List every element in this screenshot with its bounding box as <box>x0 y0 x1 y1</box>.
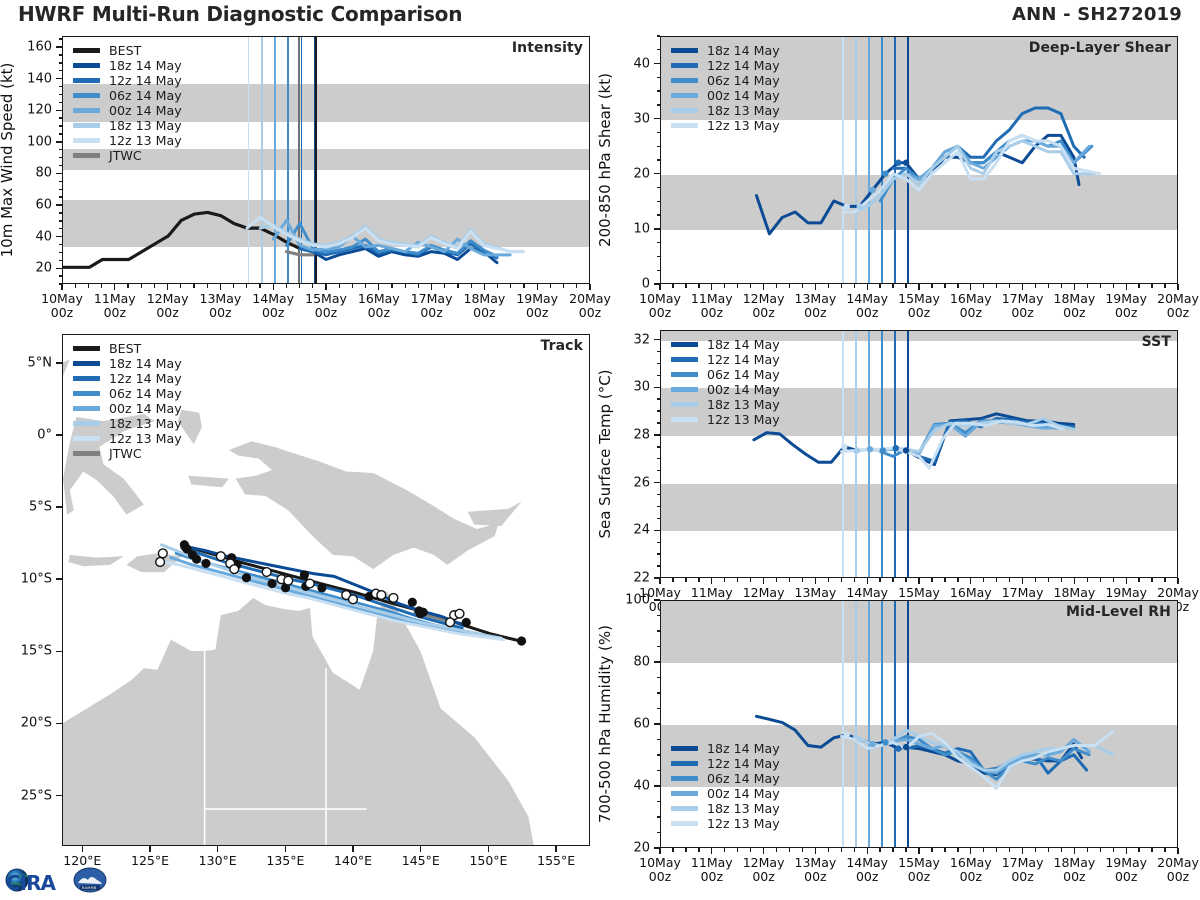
legend-label: 12z 13 May <box>707 412 780 427</box>
x-minor-tick <box>101 284 102 288</box>
lat-tick-label: 0° <box>37 427 52 442</box>
x-tick-label: 13May00z <box>200 292 242 320</box>
x-minor-tick <box>737 284 738 288</box>
x-minor-tick <box>944 578 945 582</box>
y-minor-tick <box>657 375 661 376</box>
x-tick-mark <box>659 578 660 584</box>
x-tick-mark <box>918 578 919 584</box>
legend-label: 12z 14 May <box>707 756 780 771</box>
lon-tick-label: 155°E <box>537 854 575 868</box>
legend-item[interactable]: BEST <box>73 341 182 356</box>
x-minor-tick <box>828 284 829 288</box>
x-minor-tick <box>750 284 751 288</box>
legend-swatch <box>671 761 698 765</box>
x-minor-tick <box>1151 848 1152 852</box>
track-marker-12z <box>230 565 239 574</box>
init-marker <box>867 446 873 452</box>
legend-label: 00z 14 May <box>707 786 780 801</box>
y-minor-tick <box>657 708 661 709</box>
x-minor-tick <box>776 848 777 852</box>
x-tick-label: 11May00z <box>691 856 733 884</box>
x-minor-tick <box>892 578 893 582</box>
y-minor-tick <box>657 132 661 133</box>
init-marker <box>856 736 862 742</box>
track-marker-00z <box>300 570 309 579</box>
y-tick-label: 20 <box>633 166 650 181</box>
x-tick-mark <box>815 848 816 854</box>
legend-label: 18z 14 May <box>707 43 780 58</box>
shear-plot-area[interactable]: Deep-Layer Shear18z 14 May12z 14 May06z … <box>660 36 1178 284</box>
legend-item[interactable]: 18z 13 May <box>73 118 182 133</box>
svg-text:CIRA: CIRA <box>6 871 57 895</box>
y-tick-label: 10 <box>633 221 650 236</box>
y-minor-tick <box>657 553 661 554</box>
y-tick-label: 24 <box>633 523 650 538</box>
legend-label: 18z 13 May <box>707 801 780 816</box>
legend-label: 12z 13 May <box>109 133 182 148</box>
x-minor-tick <box>286 284 287 288</box>
y-minor-tick <box>59 204 63 205</box>
legend-label: BEST <box>109 43 141 58</box>
track-marker-12z <box>158 549 167 558</box>
lon-tick-mark <box>420 846 421 852</box>
x-tick-mark <box>378 284 379 290</box>
series-line <box>842 421 1064 468</box>
x-minor-tick <box>1048 848 1049 852</box>
legend-item[interactable]: 18z 14 May <box>671 43 780 58</box>
x-tick-label: 15May00z <box>305 292 347 320</box>
x-tick-label: 16May00z <box>358 292 400 320</box>
x-minor-tick <box>1061 284 1062 288</box>
x-minor-tick <box>1164 848 1165 852</box>
init-marker <box>869 187 875 193</box>
legend-item[interactable]: 06z 14 May <box>73 88 182 103</box>
legend-swatch <box>73 63 100 67</box>
legend-swatch <box>671 93 698 97</box>
track-marker-00z <box>317 583 326 592</box>
lat-tick-label: 25°S <box>21 788 52 803</box>
x-minor-tick <box>523 284 524 288</box>
x-minor-tick <box>365 284 366 288</box>
legend-label: 12z 13 May <box>707 118 780 133</box>
y-minor-tick <box>657 398 661 399</box>
legend-swatch <box>671 342 698 346</box>
x-minor-tick <box>802 578 803 582</box>
x-tick-mark <box>918 284 919 290</box>
shear-y-axis-label: 200-850 hPa Shear (kt) <box>596 73 614 247</box>
legend-item[interactable]: JTWC <box>73 446 182 461</box>
y-minor-tick <box>657 201 661 202</box>
intensity-plot-area[interactable]: IntensityBEST18z 14 May12z 14 May06z 14 … <box>62 36 590 284</box>
x-minor-tick <box>246 284 247 288</box>
y-minor-tick <box>59 62 63 63</box>
y-tick-label: 160 <box>27 40 52 55</box>
y-tick-label: 40 <box>35 229 52 244</box>
x-tick-label: 11May00z <box>691 292 733 320</box>
y-minor-tick <box>59 244 63 245</box>
y-minor-tick <box>657 506 661 507</box>
x-tick-mark <box>815 284 816 290</box>
legend-item[interactable]: 00z 14 May <box>671 382 780 397</box>
y-tick-label: 100 <box>625 593 650 608</box>
lon-tick-label: 140°E <box>334 854 372 868</box>
y-minor-tick <box>59 228 63 229</box>
x-minor-tick <box>471 284 472 288</box>
sst-panel-title: SST <box>1142 334 1171 350</box>
x-tick-mark <box>711 848 712 854</box>
x-tick-mark <box>970 284 971 290</box>
legend-item[interactable]: 18z 13 May <box>671 801 780 816</box>
y-tick-label: 120 <box>27 103 52 118</box>
x-tick-label: 12May00z <box>147 292 189 320</box>
x-tick-mark <box>1126 284 1127 290</box>
legend-item[interactable]: 06z 14 May <box>73 386 182 401</box>
x-tick-mark <box>1022 848 1023 854</box>
legend-item[interactable]: 12z 14 May <box>73 73 182 88</box>
x-minor-tick <box>802 848 803 852</box>
y-minor-tick <box>657 35 661 36</box>
legend-label: 18z 14 May <box>707 337 780 352</box>
sst-plot-area[interactable]: SST18z 14 May12z 14 May06z 14 May00z 14 … <box>660 330 1178 578</box>
x-tick-mark <box>711 284 712 290</box>
x-tick-label: 14May00z <box>846 856 888 884</box>
y-minor-tick <box>657 104 661 105</box>
x-tick-mark <box>1074 284 1075 290</box>
legend-swatch <box>671 78 698 82</box>
y-minor-tick <box>657 615 661 616</box>
x-minor-tick <box>672 848 673 852</box>
x-minor-tick <box>957 578 958 582</box>
x-minor-tick <box>698 284 699 288</box>
x-tick-mark <box>867 284 868 290</box>
x-tick-label: 19May00z <box>1105 292 1147 320</box>
legend-label: 00z 14 May <box>109 401 182 416</box>
y-minor-tick <box>59 260 63 261</box>
x-minor-tick <box>931 284 932 288</box>
legend-label: 06z 14 May <box>707 73 780 88</box>
y-tick-label: 32 <box>633 332 650 347</box>
lon-tick-mark <box>82 846 83 852</box>
panel-shear[interactable]: Deep-Layer Shear18z 14 May12z 14 May06z … <box>660 36 1178 284</box>
x-minor-tick <box>193 284 194 288</box>
x-tick-label: 14May00z <box>846 292 888 320</box>
x-minor-tick <box>931 848 932 852</box>
init-marker <box>903 744 909 750</box>
legend-label: 12z 14 May <box>707 352 780 367</box>
x-tick-label: 17May00z <box>1002 856 1044 884</box>
y-minor-tick <box>657 542 661 543</box>
x-tick-mark <box>1074 578 1075 584</box>
track-marker-12z <box>305 579 314 588</box>
lon-tick-label: 150°E <box>469 854 507 868</box>
legend-item[interactable]: 18z 14 May <box>671 337 780 352</box>
x-minor-tick <box>983 848 984 852</box>
y-minor-tick <box>657 146 661 147</box>
x-tick-mark <box>867 578 868 584</box>
x-tick-mark <box>659 848 660 854</box>
x-tick-mark <box>970 578 971 584</box>
legend-item[interactable]: 12z 14 May <box>671 58 780 73</box>
legend-item[interactable]: 12z 13 May <box>671 816 780 831</box>
x-minor-tick <box>724 578 725 582</box>
x-tick-label: 14May00z <box>252 292 294 320</box>
x-tick-mark <box>114 284 115 290</box>
x-minor-tick <box>88 284 89 288</box>
x-minor-tick <box>1151 578 1152 582</box>
legend-label: 06z 14 May <box>707 367 780 382</box>
legend-label: BEST <box>109 341 141 356</box>
init-marker <box>895 745 901 751</box>
y-tick-label: 20 <box>35 261 52 276</box>
x-minor-tick <box>698 578 699 582</box>
y-minor-tick <box>657 565 661 566</box>
legend-item[interactable]: 00z 14 May <box>671 786 780 801</box>
x-minor-tick <box>1061 578 1062 582</box>
panel-sst[interactable]: SST18z 14 May12z 14 May06z 14 May00z 14 … <box>660 330 1178 578</box>
x-minor-tick <box>1035 284 1036 288</box>
legend-item[interactable]: 12z 13 May <box>73 133 182 148</box>
x-minor-tick <box>339 284 340 288</box>
panel-intensity[interactable]: IntensityBEST18z 14 May12z 14 May06z 14 … <box>62 36 590 284</box>
x-tick-label: 13May00z <box>795 292 837 320</box>
x-minor-tick <box>957 284 958 288</box>
y-minor-tick <box>59 46 63 47</box>
y-minor-tick <box>59 70 63 71</box>
legend-label: 06z 14 May <box>109 88 182 103</box>
x-tick-mark <box>918 848 919 854</box>
x-tick-mark <box>1074 848 1075 854</box>
x-minor-tick <box>1113 284 1114 288</box>
legend-label: JTWC <box>109 148 142 163</box>
x-minor-tick <box>497 284 498 288</box>
x-minor-tick <box>802 284 803 288</box>
legend-label: 18z 14 May <box>109 356 182 371</box>
x-minor-tick <box>1009 284 1010 288</box>
y-minor-tick <box>59 54 63 55</box>
lon-tick-mark <box>352 846 353 852</box>
legend-swatch <box>671 776 698 780</box>
legend-item[interactable]: 00z 14 May <box>73 103 182 118</box>
y-minor-tick <box>59 149 63 150</box>
x-minor-tick <box>854 284 855 288</box>
y-tick-label: 28 <box>633 427 650 442</box>
x-minor-tick <box>1138 578 1139 582</box>
y-minor-tick <box>59 141 63 142</box>
init-marker <box>895 160 901 166</box>
x-tick-mark <box>763 578 764 584</box>
legend-swatch <box>73 391 100 395</box>
x-tick-mark <box>220 284 221 290</box>
x-minor-tick <box>724 848 725 852</box>
intensity-legend: BEST18z 14 May12z 14 May06z 14 May00z 14… <box>73 43 182 163</box>
x-minor-tick <box>259 284 260 288</box>
track-marker-00z <box>462 618 471 627</box>
y-minor-tick <box>59 275 63 276</box>
x-minor-tick <box>672 284 673 288</box>
legend-swatch <box>73 406 100 410</box>
x-tick-mark <box>1126 578 1127 584</box>
x-tick-mark <box>589 284 590 290</box>
y-minor-tick <box>657 470 661 471</box>
legend-item[interactable]: 00z 14 May <box>73 401 182 416</box>
track-plot-area[interactable]: TrackBEST18z 14 May12z 14 May06z 14 May0… <box>62 334 590 846</box>
x-minor-tick <box>828 848 829 852</box>
track-marker-00z <box>201 559 210 568</box>
lon-tick-label: 130°E <box>199 854 237 868</box>
y-minor-tick <box>59 38 63 39</box>
x-minor-tick <box>737 578 738 582</box>
y-minor-tick <box>59 125 63 126</box>
x-tick-mark <box>1177 284 1178 290</box>
legend-item[interactable]: 18z 14 May <box>671 741 780 756</box>
init-marker <box>841 444 847 450</box>
x-minor-tick <box>1087 578 1088 582</box>
init-marker <box>903 447 909 453</box>
lat-tick-mark <box>56 362 62 363</box>
legend-item[interactable]: 18z 13 May <box>671 103 780 118</box>
y-minor-tick <box>657 677 661 678</box>
y-minor-tick <box>59 157 63 158</box>
series-line <box>893 742 1086 773</box>
x-minor-tick <box>312 284 313 288</box>
x-minor-tick <box>1048 284 1049 288</box>
x-minor-tick <box>750 578 751 582</box>
y-minor-tick <box>657 214 661 215</box>
x-minor-tick <box>879 284 880 288</box>
x-tick-label: 10May00z <box>639 856 681 884</box>
y-minor-tick <box>59 133 63 134</box>
legend-item[interactable]: 12z 14 May <box>671 756 780 771</box>
legend-swatch <box>73 451 100 455</box>
init-marker <box>880 447 886 453</box>
x-tick-mark <box>484 284 485 290</box>
x-minor-tick <box>1100 284 1101 288</box>
y-minor-tick <box>657 228 661 229</box>
y-minor-tick <box>657 351 661 352</box>
panel-track[interactable]: TrackBEST18z 14 May12z 14 May06z 14 May0… <box>62 334 590 846</box>
x-minor-tick <box>931 578 932 582</box>
init-marker <box>893 445 899 451</box>
legend-item[interactable]: 06z 14 May <box>671 367 780 382</box>
x-tick-label: 16May00z <box>950 856 992 884</box>
init-marker <box>844 732 850 738</box>
lon-tick-mark <box>149 846 150 852</box>
x-minor-tick <box>207 284 208 288</box>
x-tick-mark <box>1177 848 1178 854</box>
x-minor-tick <box>1100 848 1101 852</box>
y-tick-label: 80 <box>35 166 52 181</box>
legend-item[interactable]: 18z 13 May <box>671 397 780 412</box>
rh-y-axis-label: 700-500 hPa Humidity (%) <box>596 625 614 823</box>
lat-tick-label: 10°S <box>21 572 52 587</box>
legend-swatch <box>73 153 100 157</box>
y-minor-tick <box>657 77 661 78</box>
y-minor-tick <box>59 252 63 253</box>
legend-swatch <box>671 806 698 810</box>
x-minor-tick <box>418 284 419 288</box>
legend-item[interactable]: 12z 13 May <box>671 118 780 133</box>
x-minor-tick <box>841 578 842 582</box>
y-tick-label: 30 <box>633 111 650 126</box>
y-minor-tick <box>59 196 63 197</box>
x-tick-label: 17May00z <box>1002 292 1044 320</box>
x-tick-mark <box>431 284 432 290</box>
y-minor-tick <box>59 212 63 213</box>
x-tick-label: 17May00z <box>411 292 453 320</box>
legend-item[interactable]: 12z 13 May <box>73 431 182 446</box>
y-minor-tick <box>657 458 661 459</box>
track-marker-00z <box>408 598 417 607</box>
x-minor-tick <box>828 578 829 582</box>
x-tick-label: 20May00z <box>1157 856 1199 884</box>
legend-swatch <box>671 402 698 406</box>
x-minor-tick <box>75 284 76 288</box>
lon-tick-mark <box>217 846 218 852</box>
legend-item[interactable]: JTWC <box>73 148 182 163</box>
track-marker-12z <box>349 595 358 604</box>
x-minor-tick <box>180 284 181 288</box>
legend-item[interactable]: 12z 14 May <box>73 371 182 386</box>
x-tick-label: 15May00z <box>898 292 940 320</box>
x-tick-label: 19May00z <box>516 292 558 320</box>
legend-item[interactable]: 06z 14 May <box>671 771 780 786</box>
legend-label: 00z 14 May <box>707 382 780 397</box>
x-minor-tick <box>776 578 777 582</box>
y-minor-tick <box>657 363 661 364</box>
x-minor-tick <box>1035 848 1036 852</box>
y-minor-tick <box>59 110 63 111</box>
x-tick-label: 20May00z <box>569 292 611 320</box>
y-tick-label: 80 <box>633 655 650 670</box>
y-minor-tick <box>657 518 661 519</box>
series-line <box>63 212 313 267</box>
track-marker-12z <box>377 591 386 600</box>
legend-item[interactable]: 12z 13 May <box>671 412 780 427</box>
x-minor-tick <box>905 284 906 288</box>
legend-item[interactable]: 18z 14 May <box>73 356 182 371</box>
legend-item[interactable]: BEST <box>73 43 182 58</box>
legend-item[interactable]: 06z 14 May <box>671 73 780 88</box>
x-tick-mark <box>815 578 816 584</box>
legend-swatch <box>73 421 100 425</box>
x-minor-tick <box>854 578 855 582</box>
x-tick-mark <box>1022 578 1023 584</box>
init-marker <box>844 203 850 209</box>
x-minor-tick <box>841 284 842 288</box>
legend-item[interactable]: 18z 13 May <box>73 416 182 431</box>
rh-plot-area[interactable]: Mid-Level RH18z 14 May12z 14 May06z 14 M… <box>660 600 1178 848</box>
legend-item[interactable]: 00z 14 May <box>671 88 780 103</box>
x-minor-tick <box>776 284 777 288</box>
lat-tick-mark <box>56 578 62 579</box>
legend-label: 12z 14 May <box>109 371 182 386</box>
y-minor-tick <box>657 410 661 411</box>
legend-item[interactable]: 18z 14 May <box>73 58 182 73</box>
track-marker-12z <box>216 552 225 561</box>
y-minor-tick <box>657 816 661 817</box>
panel-rh[interactable]: Mid-Level RH18z 14 May12z 14 May06z 14 M… <box>660 600 1178 848</box>
intensity-y-axis-label: 10m Max Wind Speed (kt) <box>0 63 16 258</box>
track-marker-12z <box>389 594 398 603</box>
x-tick-mark <box>867 848 868 854</box>
lat-tick-label: 15°S <box>21 644 52 659</box>
lon-tick-mark <box>555 846 556 852</box>
track-marker-00z <box>242 573 251 582</box>
track-marker-12z <box>446 618 455 627</box>
y-tick-label: 40 <box>633 779 650 794</box>
y-minor-tick <box>59 173 63 174</box>
legend-item[interactable]: 12z 14 May <box>671 352 780 367</box>
